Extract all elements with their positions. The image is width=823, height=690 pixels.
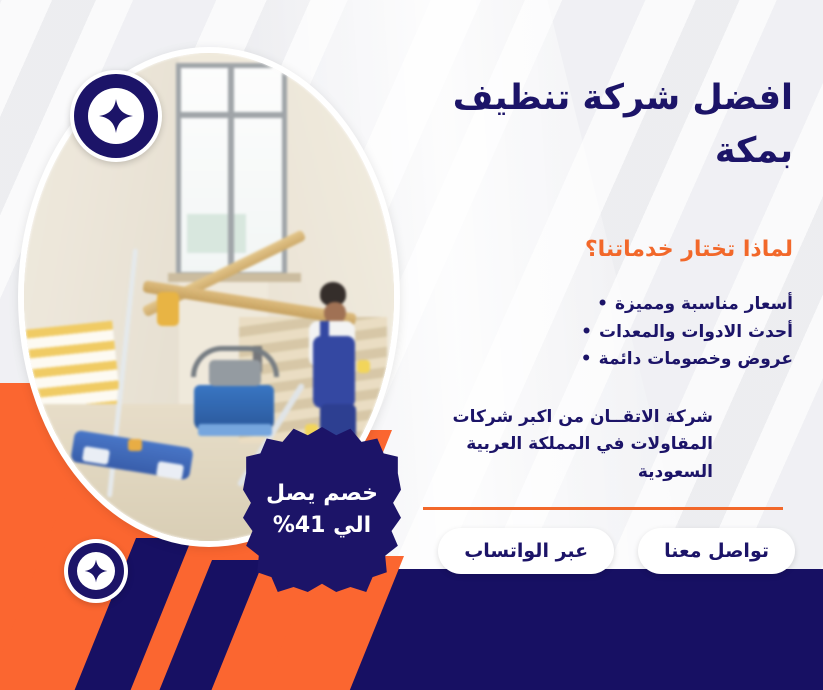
list-item: أحدث الادوات والمعدات — [423, 319, 793, 347]
list-item: أسعار مناسبة ومميزة — [423, 291, 793, 319]
advertisement-poster: خصم يصل الي 41% افضل شركة تنظيف بمكة لما… — [0, 0, 823, 690]
sparkle-logo-icon — [98, 98, 134, 134]
logo-ring-outer — [74, 74, 158, 158]
orange-divider — [423, 507, 783, 510]
discount-badge: خصم يصل الي 41% — [243, 427, 401, 592]
headline: افضل شركة تنظيف بمكة — [423, 72, 793, 178]
list-item: عروض وخصومات دائمة — [423, 346, 793, 374]
logo-ring-inner — [88, 88, 144, 144]
content-column: افضل شركة تنظيف بمكة لماذا تختار خدماتنا… — [423, 72, 793, 510]
company-description: شركة الاتقــان من اكبر شركات المقاولات ف… — [423, 404, 713, 488]
cta-button-group: تواصل معنا عبر الواتساب — [438, 528, 795, 574]
sparkle-logo-icon — [84, 559, 108, 583]
discount-badge-line-1: خصم يصل — [266, 478, 378, 509]
contact-us-button[interactable]: تواصل معنا — [638, 528, 795, 574]
brand-logo-top — [70, 70, 162, 162]
whatsapp-button[interactable]: عبر الواتساب — [438, 528, 614, 574]
brand-logo-bottom — [64, 539, 128, 603]
logo-ring-outer — [68, 543, 124, 599]
benefits-list: أسعار مناسبة ومميزة أحدث الادوات والمعدا… — [423, 291, 793, 374]
subheadline: لماذا تختار خدماتنا؟ — [423, 236, 793, 265]
logo-ring-inner — [77, 552, 115, 590]
discount-badge-line-2: الي 41% — [273, 510, 371, 541]
